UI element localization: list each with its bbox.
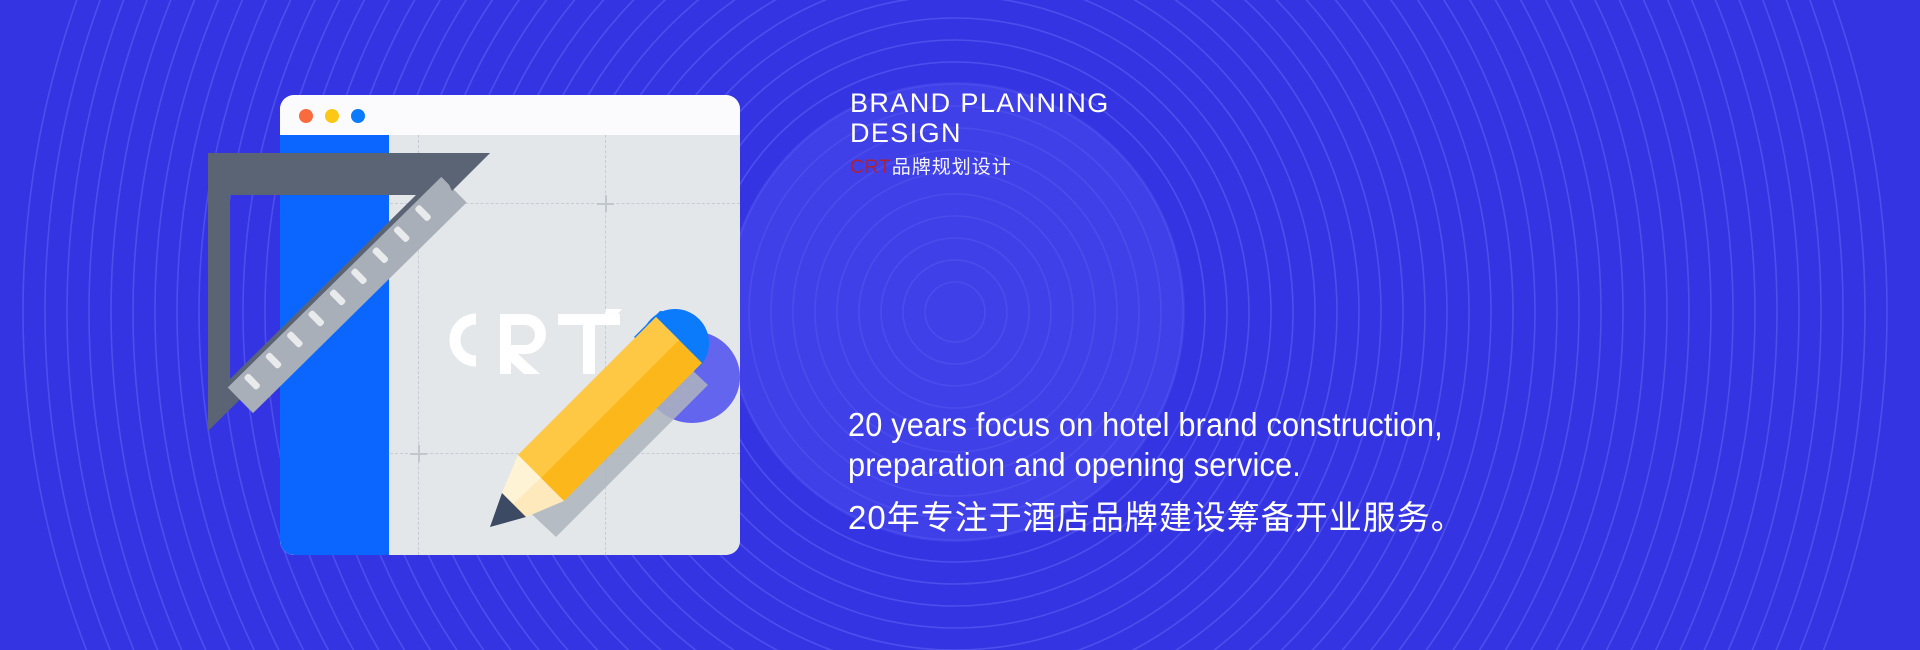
heading-subtitle: CRT品牌规划设计 bbox=[850, 157, 1370, 179]
browser-title-bar bbox=[280, 95, 740, 135]
heading-line-1: BRAND PLANNING bbox=[850, 88, 1370, 118]
maximize-dot-icon bbox=[351, 109, 365, 123]
close-dot-icon bbox=[299, 109, 313, 123]
minimize-dot-icon bbox=[325, 109, 339, 123]
heading-block: BRAND PLANNING DESIGN CRT品牌规划设计 bbox=[850, 88, 1370, 179]
tagline-en-line-2: preparation and opening service. bbox=[848, 445, 1611, 485]
tagline-cn: 20年专注于酒店品牌建设筹备开业服务。 bbox=[848, 497, 1668, 539]
guide-crosshair bbox=[597, 195, 614, 212]
heading-line-2: DESIGN bbox=[850, 118, 1370, 148]
brand-banner: BRAND PLANNING DESIGN CRT品牌规划设计 20 years… bbox=[0, 0, 1920, 650]
subtitle-brand: CRT bbox=[850, 157, 892, 178]
subtitle-chinese: 品牌规划设计 bbox=[892, 157, 1012, 178]
guide-crosshair bbox=[410, 445, 427, 462]
tagline-block: 20 years focus on hotel brand constructi… bbox=[848, 405, 1668, 539]
hero-illustration bbox=[280, 95, 750, 560]
tagline-en-line-1: 20 years focus on hotel brand constructi… bbox=[848, 405, 1611, 445]
pencil-icon bbox=[460, 225, 780, 555]
